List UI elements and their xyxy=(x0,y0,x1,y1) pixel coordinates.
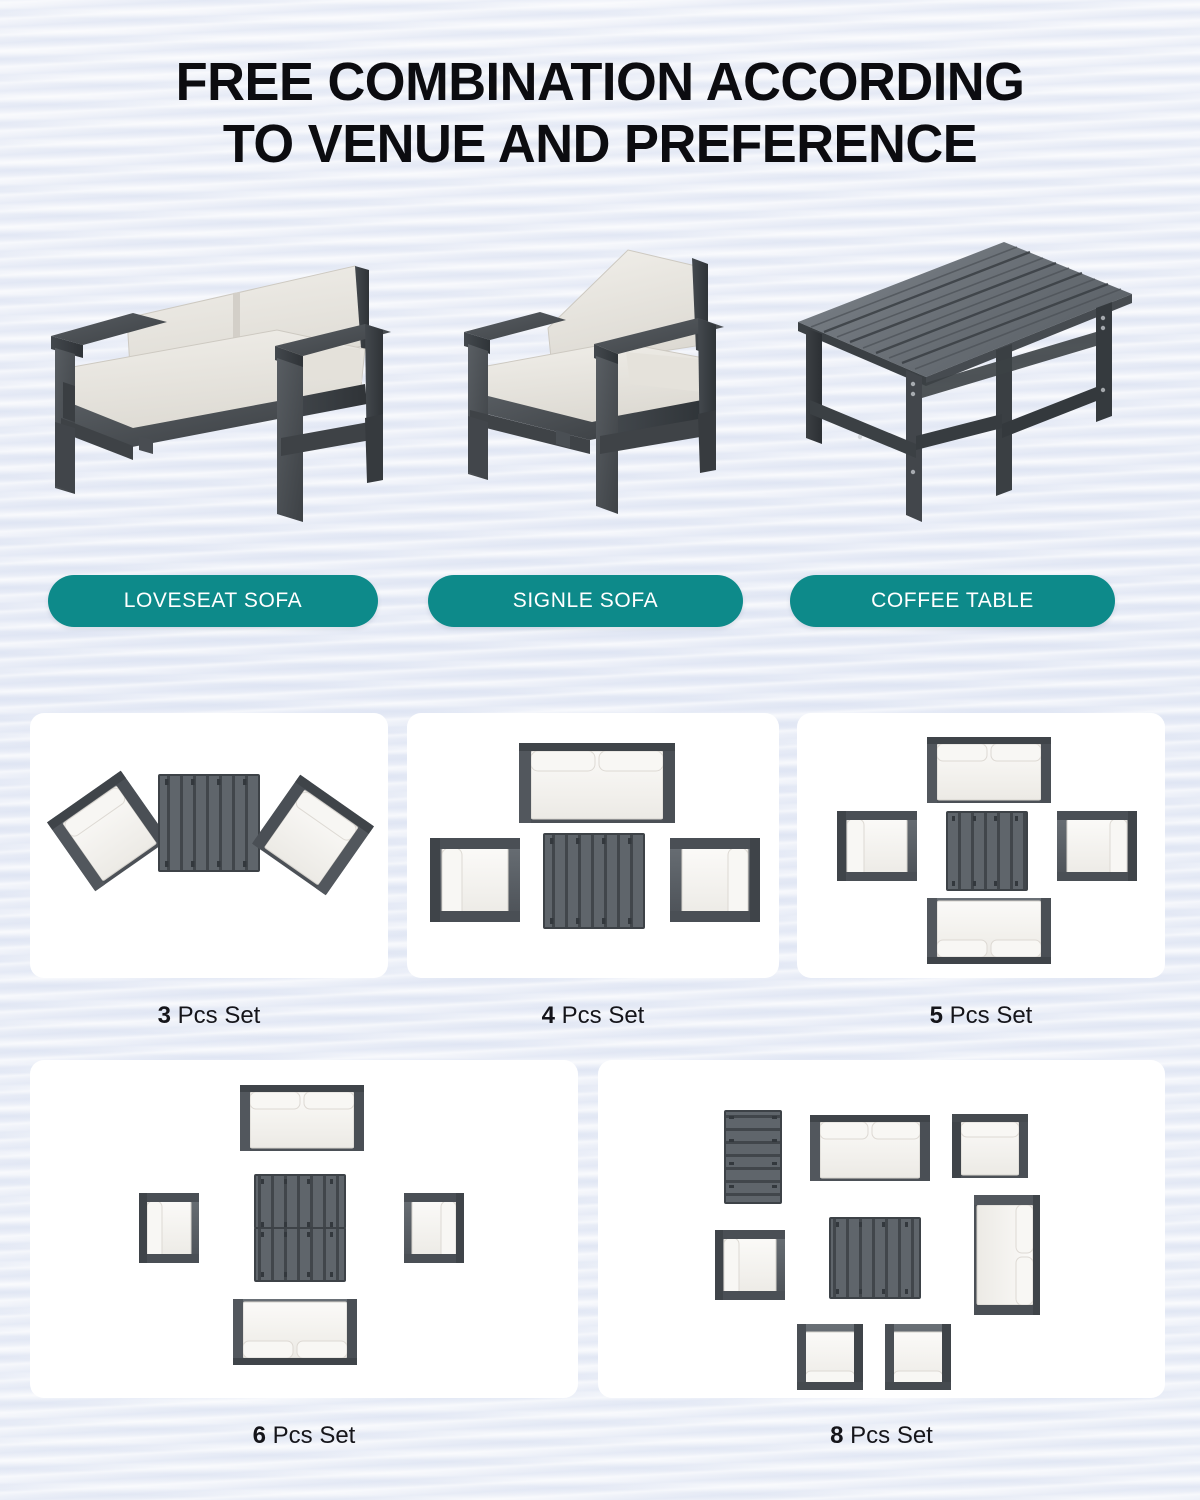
set-diagram-3-pcs xyxy=(30,713,388,978)
set-suffix-6: Pcs Set xyxy=(266,1422,355,1449)
coffee-table-icon xyxy=(790,232,1140,532)
set-label-8-pcs: 8 Pcs Set xyxy=(598,1422,1165,1450)
set-card-6-pcs[interactable] xyxy=(30,1060,578,1398)
set-label-4-pcs: 4 Pcs Set xyxy=(407,1002,779,1030)
set-suffix-4: Pcs Set xyxy=(555,1002,644,1029)
coffee-table-label[interactable]: COFFEE TABLE xyxy=(790,575,1115,627)
loveseat-sofa-label[interactable]: LOVESEAT SOFA xyxy=(48,575,378,627)
set-count-5: 5 xyxy=(930,1002,943,1029)
single-sofa-image xyxy=(440,232,750,532)
set-label-6-pcs: 6 Pcs Set xyxy=(30,1422,578,1450)
set-label-3-pcs: 3 Pcs Set xyxy=(30,1002,388,1030)
set-card-8-pcs[interactable] xyxy=(598,1060,1165,1398)
set-diagram-5-pcs xyxy=(797,713,1165,978)
product-label-row: LOVESEAT SOFA SIGNLE SOFA COFFEE TABLE xyxy=(0,575,1200,627)
set-suffix-3: Pcs Set xyxy=(171,1002,260,1029)
coffee-table-image xyxy=(790,232,1140,532)
set-diagram-6-pcs xyxy=(30,1060,578,1398)
set-label-5-pcs: 5 Pcs Set xyxy=(797,1002,1165,1030)
hero-product-row xyxy=(0,232,1200,532)
set-suffix-8: Pcs Set xyxy=(843,1422,932,1449)
single-sofa-label[interactable]: SIGNLE SOFA xyxy=(428,575,743,627)
set-count-3: 3 xyxy=(158,1002,171,1029)
set-card-4-pcs[interactable] xyxy=(407,713,779,978)
set-card-3-pcs[interactable] xyxy=(30,713,388,978)
set-suffix-5: Pcs Set xyxy=(943,1002,1032,1029)
loveseat-sofa-icon xyxy=(35,232,415,532)
set-count-6: 6 xyxy=(253,1422,266,1449)
set-card-5-pcs[interactable] xyxy=(797,713,1165,978)
title-line-1: FREE COMBINATION ACCORDING xyxy=(18,52,1182,114)
loveseat-sofa-image xyxy=(35,232,415,532)
set-diagram-4-pcs xyxy=(407,713,779,978)
set-diagram-8-pcs xyxy=(598,1060,1165,1398)
title-line-2: TO VENUE AND PREFERENCE xyxy=(18,114,1182,176)
set-count-4: 4 xyxy=(542,1002,555,1029)
page-title: FREE COMBINATION ACCORDING TO VENUE AND … xyxy=(0,52,1200,175)
single-sofa-icon xyxy=(440,232,750,532)
set-count-8: 8 xyxy=(830,1422,843,1449)
